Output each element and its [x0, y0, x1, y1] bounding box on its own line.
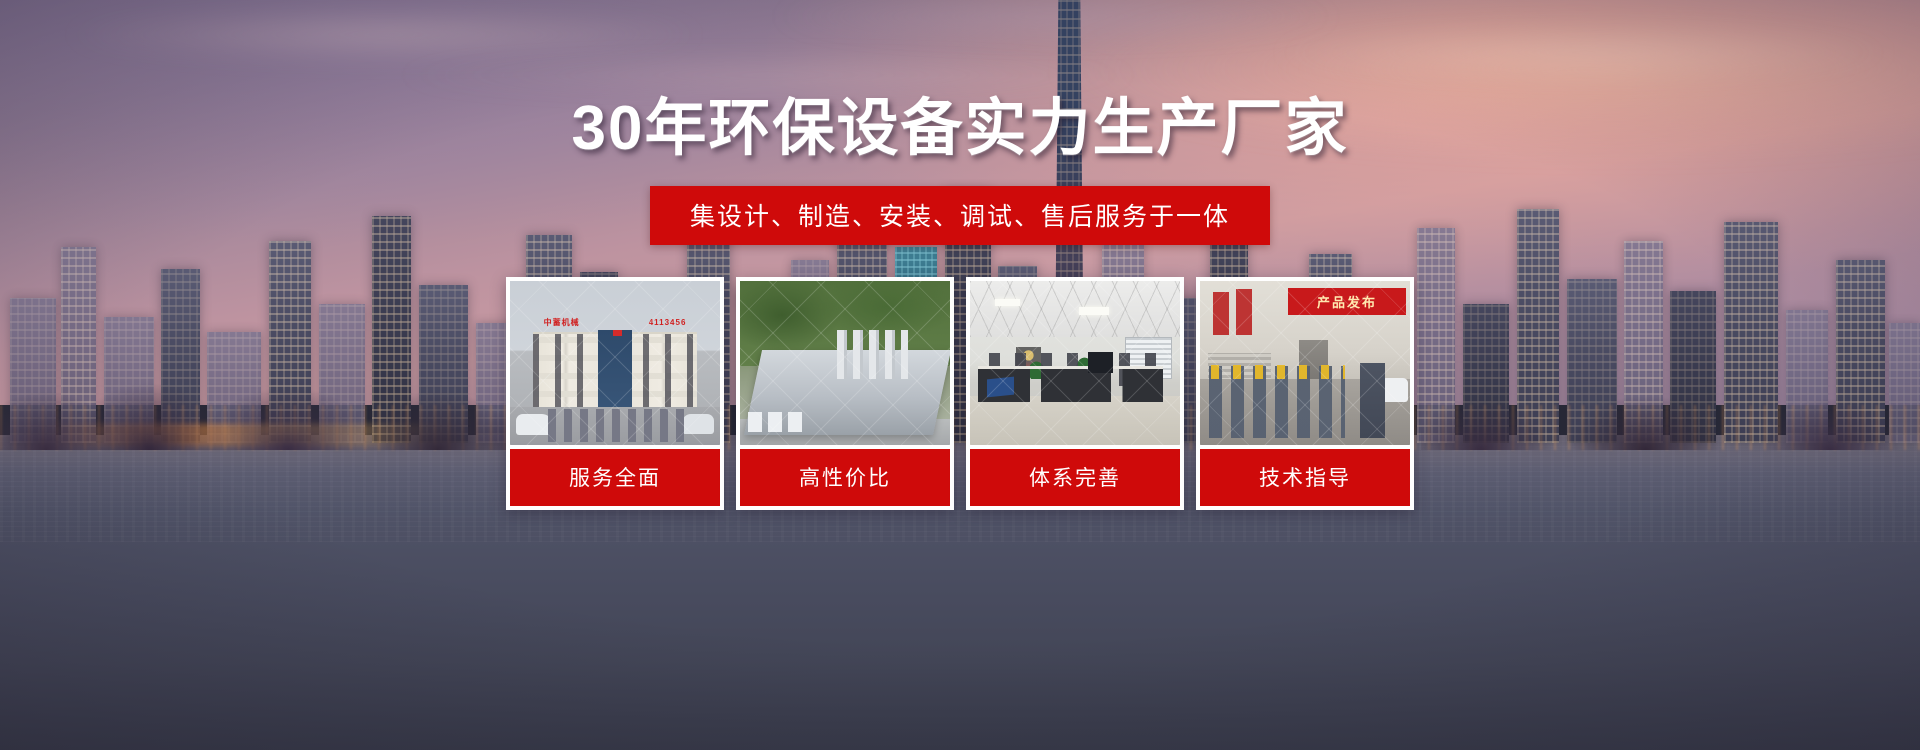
ceiling-light: [1079, 307, 1108, 315]
office-ceiling: [970, 281, 1180, 337]
monitor: [1088, 352, 1113, 373]
building-sign-name: 中蓄机械: [544, 317, 580, 328]
building-sign: 中蓄机械 4113456: [544, 317, 687, 328]
office-floor: [970, 396, 1180, 445]
banner-content: 30年环保设备实力生产厂家 集设计、制造、安装、调试、售后服务于一体 中蓄机械 …: [0, 0, 1920, 750]
ceiling-light: [995, 299, 1020, 306]
safety-helmets: [1206, 365, 1345, 380]
feature-card-caption: 服务全面: [510, 449, 720, 506]
company-office-building-photo: 中蓄机械 4113456: [510, 281, 720, 445]
workshop-banner: 产品发布: [1288, 288, 1406, 316]
staff-row: [544, 409, 687, 442]
banner-headline: 30年环保设备实力生产厂家: [572, 98, 1349, 160]
feature-card-caption: 体系完善: [970, 449, 1180, 506]
building-sign-phone: 4113456: [649, 318, 687, 327]
office-interior-staff-photo: [970, 281, 1180, 445]
car: [682, 414, 714, 434]
feature-card-caption: 技术指导: [1200, 449, 1410, 506]
storage-silos: [837, 330, 908, 379]
laptop: [987, 376, 1014, 397]
flag-icon: [613, 330, 622, 336]
feature-card[interactable]: 中蓄机械 4113456 服务全面: [506, 277, 724, 510]
wall-slogan: [1236, 289, 1253, 335]
banner-subtitle-ribbon: 集设计、制造、安装、调试、售后服务于一体: [650, 186, 1270, 245]
supervisor-person: [1360, 363, 1385, 438]
feature-card[interactable]: 产品发布 技术指导: [1196, 277, 1414, 510]
workshop-workers-photo: 产品发布: [1200, 281, 1410, 445]
feature-card[interactable]: 高性价比: [736, 277, 954, 510]
wall-slogan: [1213, 292, 1230, 335]
feature-card[interactable]: 体系完善: [966, 277, 1184, 510]
feature-card-list: 中蓄机械 4113456 服务全面: [506, 277, 1414, 510]
truck-row: [748, 412, 803, 432]
hero-banner: 30年环保设备实力生产厂家 集设计、制造、安装、调试、售后服务于一体 中蓄机械 …: [0, 0, 1920, 750]
aerial-factory-plant-photo: [740, 281, 950, 445]
feature-card-caption: 高性价比: [740, 449, 950, 506]
